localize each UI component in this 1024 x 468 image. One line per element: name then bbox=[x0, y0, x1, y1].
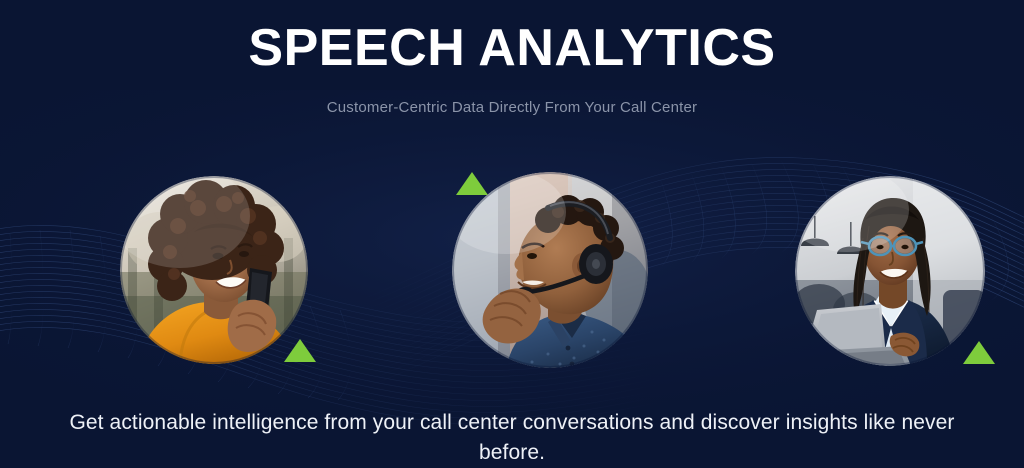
photo-man-with-headset bbox=[452, 172, 648, 368]
triangle-center bbox=[456, 172, 488, 195]
photo-woman-on-phone bbox=[120, 176, 308, 364]
page-title: SPEECH ANALYTICS bbox=[0, 18, 1024, 78]
hero-banner: SPEECH ANALYTICS Customer-Centric Data D… bbox=[0, 0, 1024, 468]
photo-woman-on-phone-art bbox=[120, 176, 308, 364]
photo-man-with-headset-art bbox=[452, 172, 648, 368]
photo-woman-at-laptop-art bbox=[795, 176, 985, 366]
hero-caption: Get actionable intelligence from your ca… bbox=[0, 408, 1024, 468]
triangle-right bbox=[963, 341, 995, 364]
photo-woman-at-laptop bbox=[795, 176, 985, 366]
header-block: SPEECH ANALYTICS Customer-Centric Data D… bbox=[0, 0, 1024, 118]
triangle-left bbox=[284, 339, 316, 362]
page-subtitle: Customer-Centric Data Directly From Your… bbox=[0, 98, 1024, 118]
